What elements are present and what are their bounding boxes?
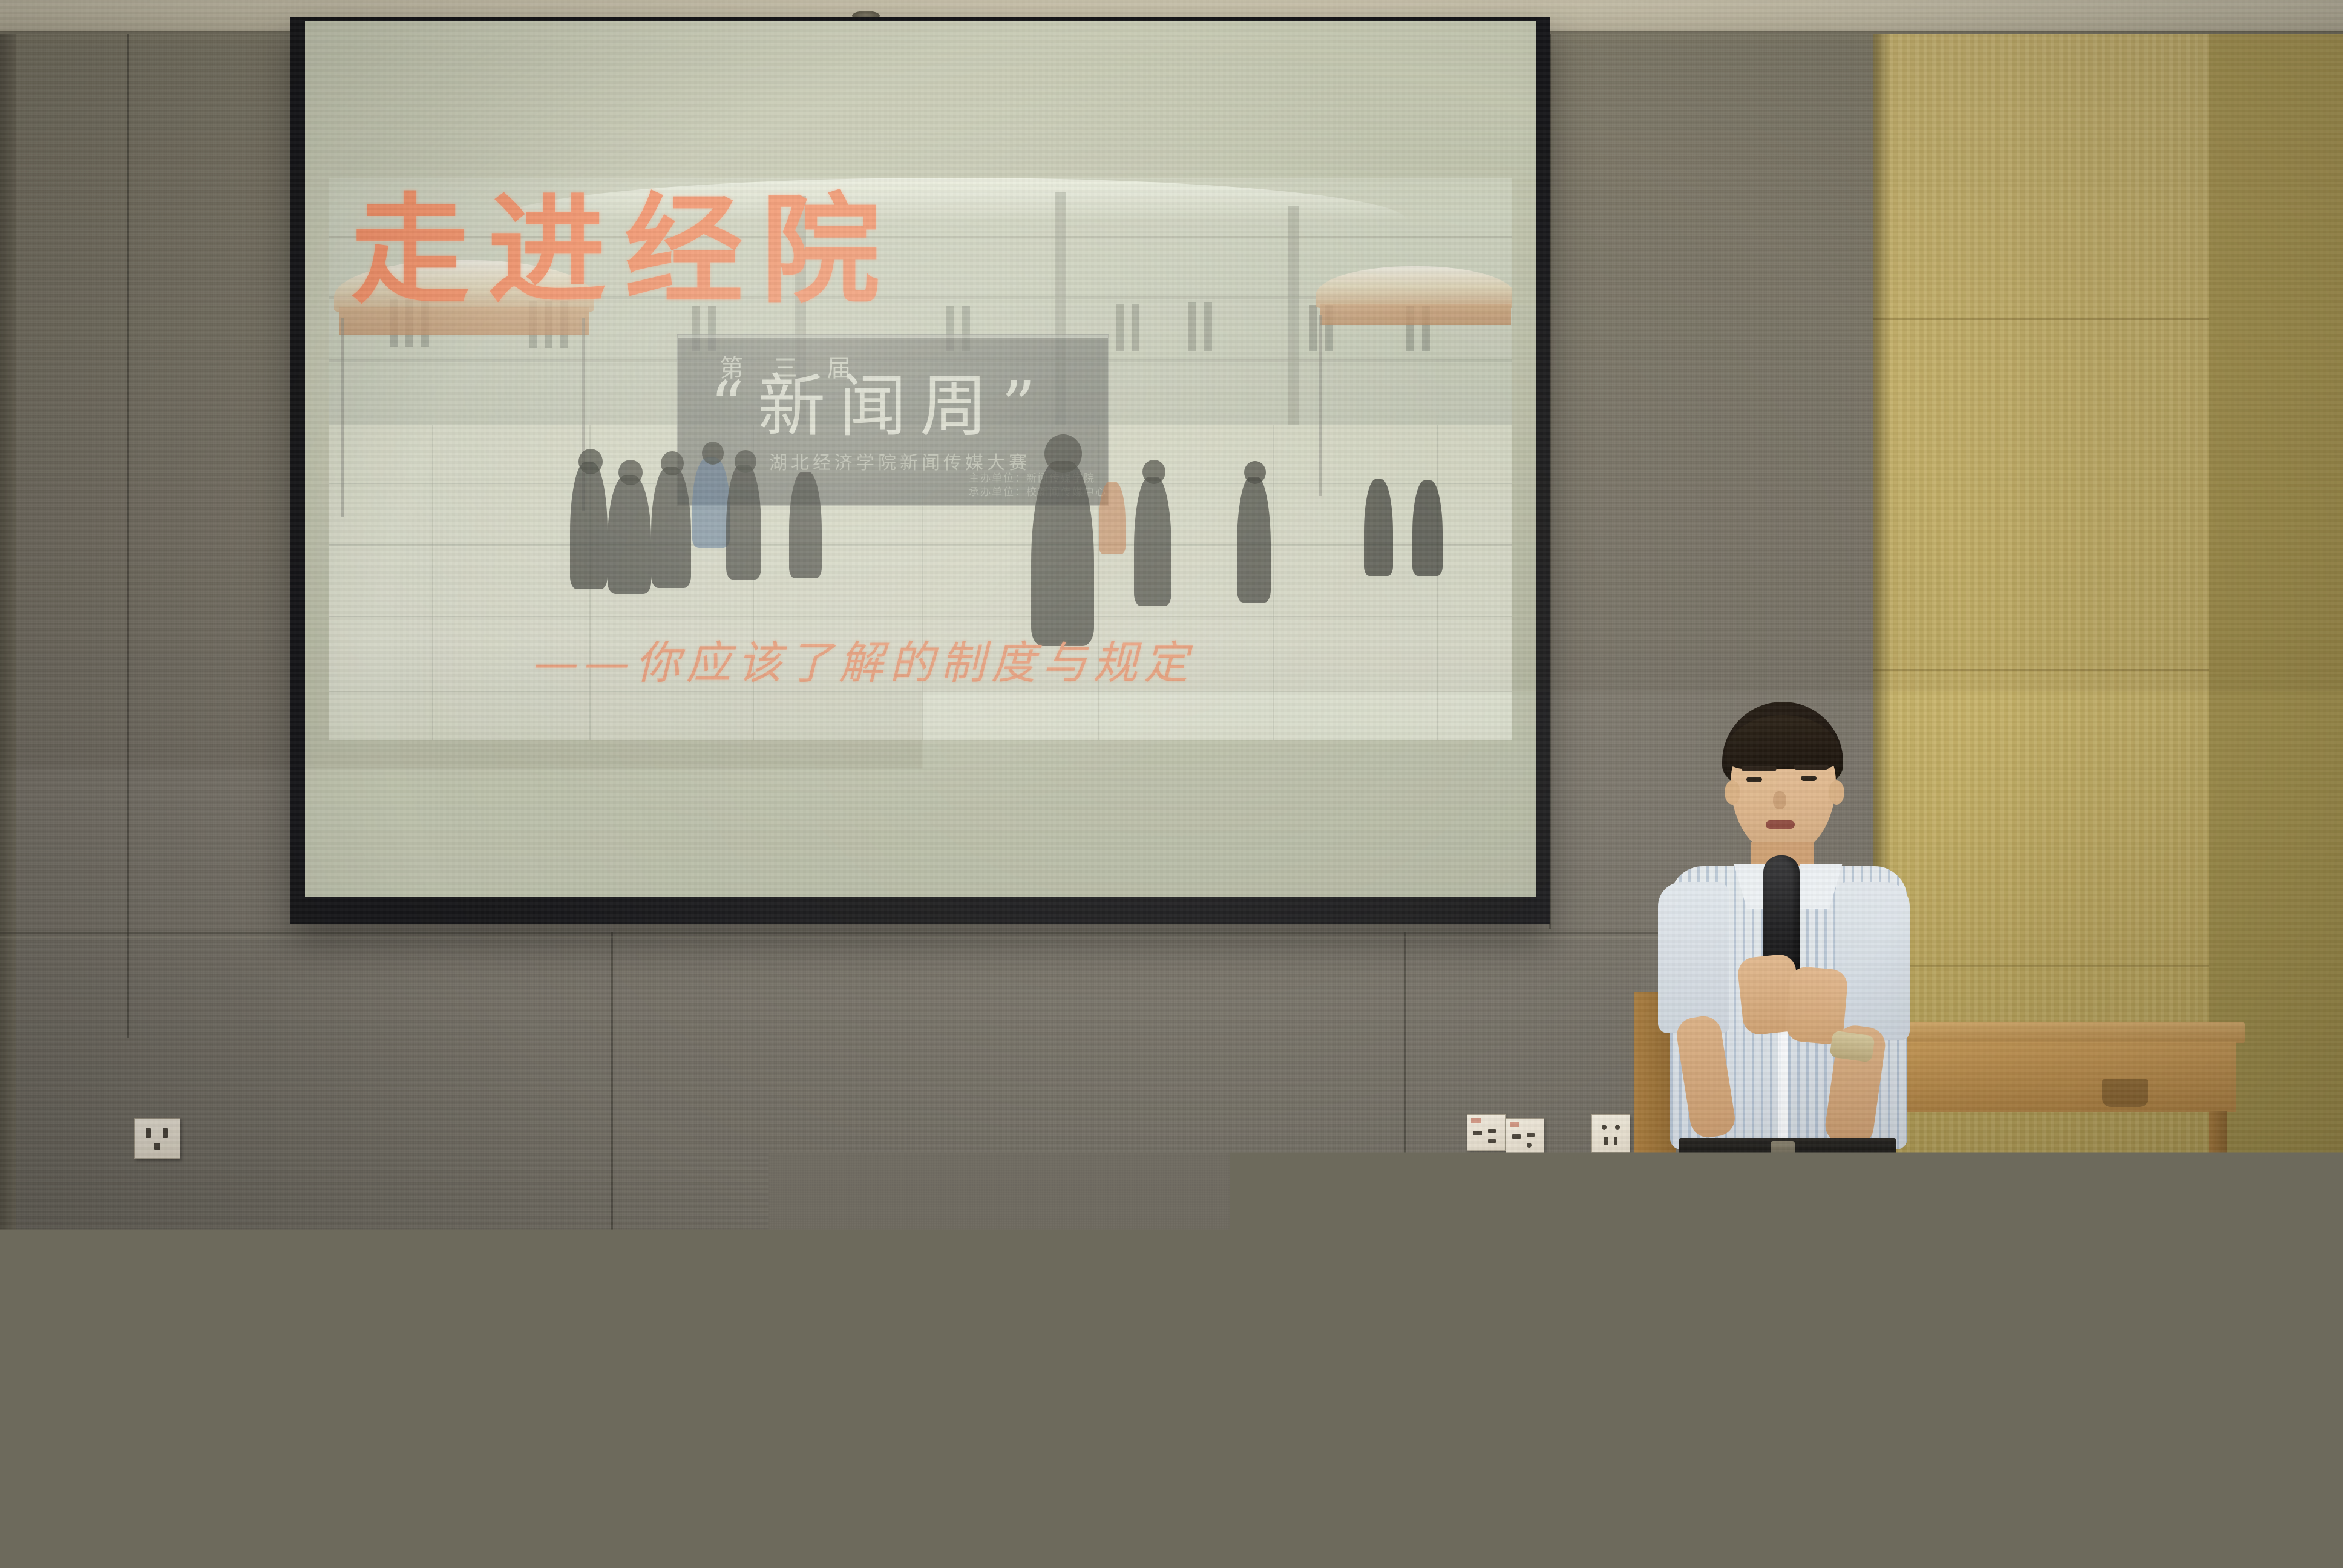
photo-person [1237, 477, 1271, 603]
power-outlet [134, 1118, 180, 1159]
photo-person [1364, 479, 1393, 576]
lectern-paper [1633, 1262, 1651, 1309]
table-notch [2102, 1079, 2148, 1107]
data-jack-plate [1506, 1118, 1544, 1154]
photo-person-head [578, 449, 603, 474]
photo-person [1134, 477, 1171, 606]
hair-clip [908, 1257, 966, 1290]
presenter-ear [1725, 780, 1740, 805]
presentation-slide: 第 三 届 “新闻周” 湖北经济学院新闻传媒大赛 主办单位：新闻传媒学院 承办单… [329, 178, 1512, 740]
wall-seam [611, 932, 613, 1246]
presenter-nose [1773, 791, 1786, 809]
hair-tie [821, 1321, 857, 1348]
photo-person-head [735, 450, 756, 473]
presenter-mouth [1766, 820, 1795, 829]
photo-person [570, 462, 608, 589]
wall-seam [127, 34, 129, 1038]
presenter-ear [1829, 780, 1844, 805]
projection-screen: 第 三 届 “新闻周” 湖北经济学院新闻传媒大赛 主办单位：新闻传媒学院 承办单… [305, 21, 1536, 897]
photo-person [789, 472, 822, 578]
photo-person [1031, 461, 1094, 646]
wall-seam-highlight [0, 936, 1873, 938]
photo-person-head [661, 451, 684, 475]
photo-person-head [618, 460, 643, 485]
wall-left-edge [0, 34, 16, 1250]
slide-headline: 走进经院 [351, 191, 898, 310]
banner-main-title: “新闻周” [710, 373, 1097, 440]
auditorium-scene: 第 三 届 “新闻周” 湖北经济学院新闻传媒大赛 主办单位：新闻传媒学院 承办单… [0, 0, 2343, 1568]
data-jack-plate [1467, 1114, 1506, 1151]
wood-seam [1873, 669, 2212, 671]
photo-person-head [702, 442, 724, 465]
belt-buckle [1771, 1141, 1795, 1161]
presenter-arm [1658, 882, 1729, 1033]
slide-subtitle: ——你应该了解的制度与规定 [534, 627, 1194, 691]
wall-seam [0, 1234, 1873, 1236]
event-tent [1316, 266, 1512, 339]
photo-person-head [1142, 460, 1165, 484]
banner-subtitle: 湖北经济学院新闻传媒大赛 [769, 448, 1031, 474]
presenter-arm [1835, 882, 1910, 1040]
photo-person [608, 475, 651, 594]
photo-person [726, 465, 761, 580]
wall-seam [0, 932, 1873, 934]
photo-person-head [1044, 434, 1082, 473]
power-outlet [1591, 1114, 1630, 1153]
photo-person [651, 467, 691, 588]
photo-person [692, 457, 730, 548]
wood-seam [1873, 318, 2212, 320]
photo-person-head [1244, 461, 1266, 484]
photo-person [1099, 482, 1126, 554]
wall-seam [1404, 932, 1406, 1246]
presenter [1650, 702, 1928, 1403]
photo-person [1412, 480, 1443, 576]
